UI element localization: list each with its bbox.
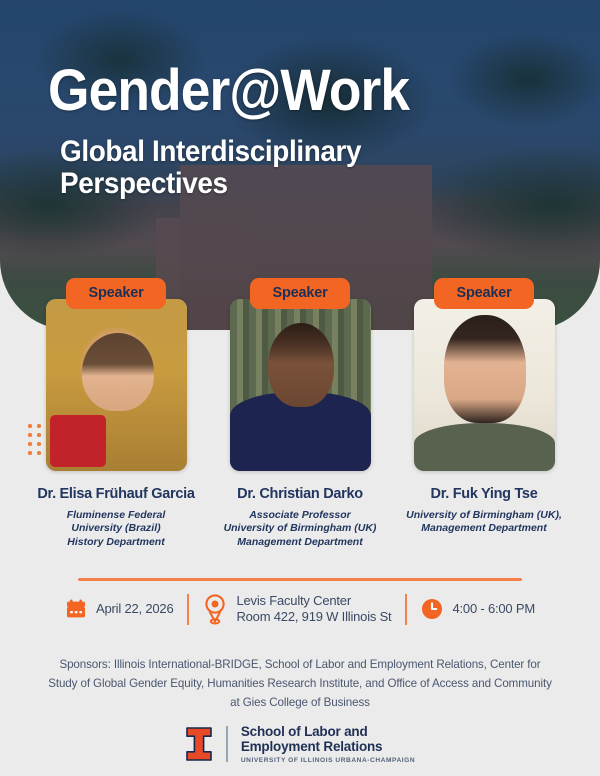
calendar-icon (65, 598, 87, 620)
logo-text-block: School of Labor and Employment Relations… (241, 724, 415, 765)
status-badge: Speaker (66, 278, 165, 309)
event-location: Levis Faculty Center Room 422, 919 W Ill… (236, 593, 391, 626)
event-poster: Gender@Work Global Interdisciplinary Per… (0, 0, 600, 776)
speakers-row: Speaker Dr. Elisa Frühauf Garcia Flumine… (0, 278, 600, 549)
speaker-affiliation: University of Birmingham (UK), Managemen… (406, 509, 562, 536)
logo-subtitle: UNIVERSITY OF ILLINOIS URBANA-CHAMPAIGN (241, 757, 415, 764)
sponsors-text: Sponsors: Illinois International-BRIDGE,… (46, 656, 554, 712)
speaker-affiliation: Associate Professor University of Birmin… (224, 509, 377, 549)
avatar (414, 299, 555, 471)
portrait-image (46, 299, 187, 471)
location-pin-icon (203, 593, 227, 625)
speaker-affiliation: Fluminense Federal University (Brazil) H… (67, 509, 166, 549)
page-title: Gender@Work (48, 62, 519, 120)
divider (78, 578, 522, 581)
event-details-bar: April 22, 2026 Levis Faculty Center Room… (0, 593, 600, 626)
event-date: April 22, 2026 (96, 601, 173, 617)
hero-text-block: Gender@Work Global Interdisciplinary Per… (48, 62, 560, 199)
portrait-image (230, 299, 371, 471)
page-subtitle: Global Interdisciplinary Perspectives (60, 136, 525, 199)
event-time: 4:00 - 6:00 PM (452, 601, 534, 617)
status-badge: Speaker (434, 278, 533, 309)
status-badge: Speaker (250, 278, 349, 309)
speaker-name: Dr. Fuk Ying Tse (431, 486, 538, 502)
avatar (230, 299, 371, 471)
speaker-card: Speaker Dr. Fuk Ying Tse University of B… (400, 278, 568, 549)
block-i-logo-icon (185, 727, 213, 761)
logo-line-2: Employment Relations (241, 739, 415, 754)
speaker-name: Dr. Elisa Frühauf Garcia (37, 486, 194, 502)
event-date-item: April 22, 2026 (51, 598, 187, 620)
footer-logo: School of Labor and Employment Relations… (0, 724, 600, 765)
speaker-name: Dr. Christian Darko (237, 486, 363, 502)
avatar (46, 299, 187, 471)
logo-divider (226, 726, 228, 762)
portrait-image (414, 299, 555, 471)
speaker-card: Speaker Dr. Elisa Frühauf Garcia Flumine… (32, 278, 200, 549)
event-location-item: Levis Faculty Center Room 422, 919 W Ill… (189, 593, 405, 626)
event-time-item: 4:00 - 6:00 PM (407, 598, 548, 620)
speaker-card: Speaker Dr. Christian Darko Associate Pr… (216, 278, 384, 549)
logo-line-1: School of Labor and (241, 724, 415, 739)
clock-icon (421, 598, 443, 620)
